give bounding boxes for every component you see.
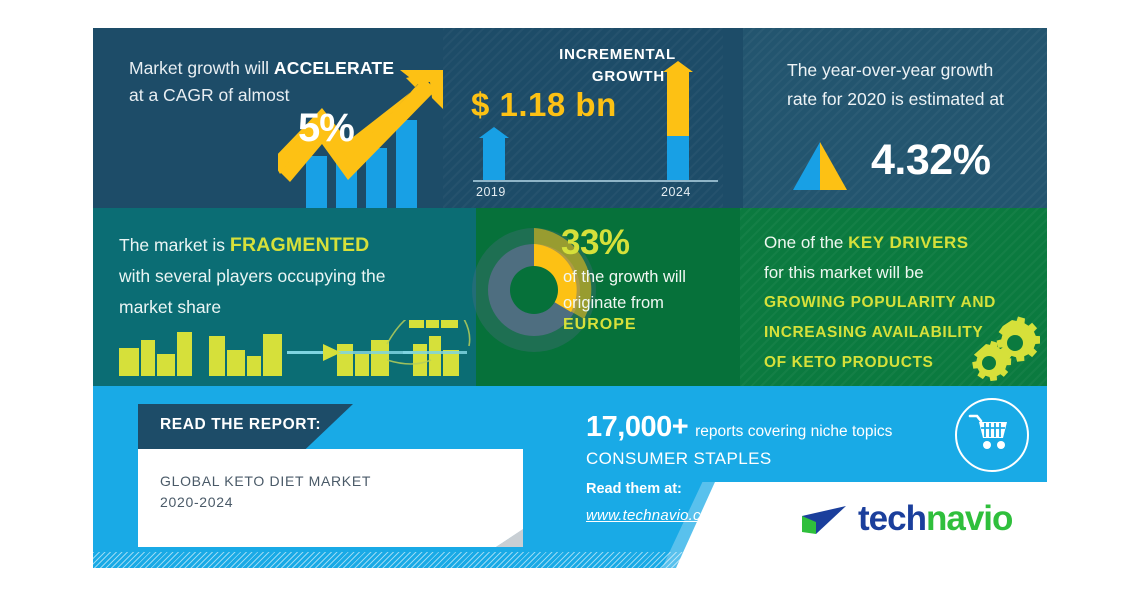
incremental-label-line1: INCREMENTAL <box>559 46 676 63</box>
panel-market-growth: Market growth will ACCELERATE at a CAGR … <box>93 28 443 208</box>
incremental-growth-label: INCREMENTAL GROWTH <box>476 44 676 88</box>
incremental-label-line2: GROWTH <box>592 68 665 85</box>
report-title-line2: 2020-2024 <box>160 494 233 510</box>
panel-yoy-growth: The year-over-year growth rate for 2020 … <box>743 28 1047 208</box>
yoy-line1: The year-over-year growth <box>787 60 993 80</box>
panel-market-fragmented: The market is FRAGMENTED with several pl… <box>93 208 476 386</box>
bar-2024-increment <box>667 72 689 136</box>
drivers-headline: One of the KEY DRIVERS for this market w… <box>764 228 1032 288</box>
report-title-line1: GLOBAL KETO DIET MARKET <box>160 473 371 489</box>
technavio-wordmark: technavio <box>858 499 1012 539</box>
read-the-report-label: READ THE REPORT: <box>160 416 321 434</box>
fragmented-bold: FRAGMENTED <box>230 234 370 256</box>
europe-line1: of the growth will <box>563 268 686 286</box>
panel-key-drivers: One of the KEY DRIVERS for this market w… <box>740 208 1047 386</box>
fragmented-headline: The market is FRAGMENTED with several pl… <box>119 230 459 323</box>
brand-first: tech <box>858 499 926 538</box>
infographic-canvas: Market growth will ACCELERATE at a CAGR … <box>0 0 1140 596</box>
europe-share-value: 33% <box>561 223 630 263</box>
cagr-text-line2: at a CAGR of almost <box>129 85 289 105</box>
panel-incremental-growth: INCREMENTAL GROWTH $ 1.18 bn 2019 2024 <box>443 28 743 208</box>
read-the-report-tag: READ THE REPORT: <box>138 404 353 449</box>
fragmented-line3: market share <box>119 297 221 317</box>
axis-label-2019: 2019 <box>476 185 506 199</box>
driver-line-3: OF KETO PRODUCTS <box>764 354 934 371</box>
panel-europe-share: 33% of the growth will originate from EU… <box>476 208 740 386</box>
row-middle: The market is FRAGMENTED with several pl… <box>93 208 1047 386</box>
europe-line2: originate from <box>563 294 664 312</box>
reports-count: 17,000+ <box>586 411 688 443</box>
europe-description: of the growth will originate from <box>563 264 738 316</box>
city-skyline-icon <box>101 320 476 386</box>
reports-stats: 17,000+reports covering niche topics CON… <box>586 411 1006 444</box>
yoy-headline: The year-over-year growth rate for 2020 … <box>787 56 1037 114</box>
report-card[interactable]: GLOBAL KETO DIET MARKET 2020-2024 <box>138 449 523 547</box>
footer-bar: READ THE REPORT: GLOBAL KETO DIET MARKET… <box>93 386 1047 568</box>
technavio-logo: technavio <box>798 502 1028 550</box>
europe-region-label: EUROPE <box>563 316 637 334</box>
brand-second: navio <box>926 499 1012 538</box>
report-title: GLOBAL KETO DIET MARKET 2020-2024 <box>160 471 371 513</box>
fragmented-pre: The market is <box>119 235 230 255</box>
bar-2024-base <box>667 136 689 180</box>
yoy-value: 4.32% <box>871 136 990 185</box>
shopping-cart-badge[interactable] <box>955 398 1029 472</box>
yoy-line2: rate for 2020 is estimated at <box>787 89 1004 109</box>
read-them-at-label: Read them at: <box>586 481 682 497</box>
bar-2019 <box>483 138 505 180</box>
gears-icon <box>968 316 1040 382</box>
cagr-value: 5% <box>298 106 354 151</box>
reports-category: CONSUMER STAPLES <box>586 449 772 469</box>
footer-hatch-strip <box>93 552 1047 568</box>
shopping-cart-icon <box>957 400 1022 465</box>
drivers-line2: for this market will be <box>764 263 924 282</box>
fragmented-line2: with several players occupying the <box>119 266 386 286</box>
infographic-board: Market growth will ACCELERATE at a CAGR … <box>93 28 1047 568</box>
incremental-growth-value: $ 1.18 bn <box>471 86 617 124</box>
paper-plane-icon <box>798 502 850 548</box>
drivers-pre: One of the <box>764 233 848 252</box>
chart-axis <box>473 180 718 182</box>
axis-label-2024: 2024 <box>661 185 691 199</box>
cagr-text-pre: Market growth will <box>129 58 274 78</box>
driver-line-1: GROWING POPULARITY AND <box>764 294 996 311</box>
row-top: Market growth will ACCELERATE at a CAGR … <box>93 28 1047 208</box>
driver-line-2: INCREASING AVAILABILITY <box>764 324 983 341</box>
drivers-bold: KEY DRIVERS <box>848 233 968 252</box>
reports-caption: reports covering niche topics <box>695 423 892 440</box>
triangle-up-icon <box>791 140 849 192</box>
